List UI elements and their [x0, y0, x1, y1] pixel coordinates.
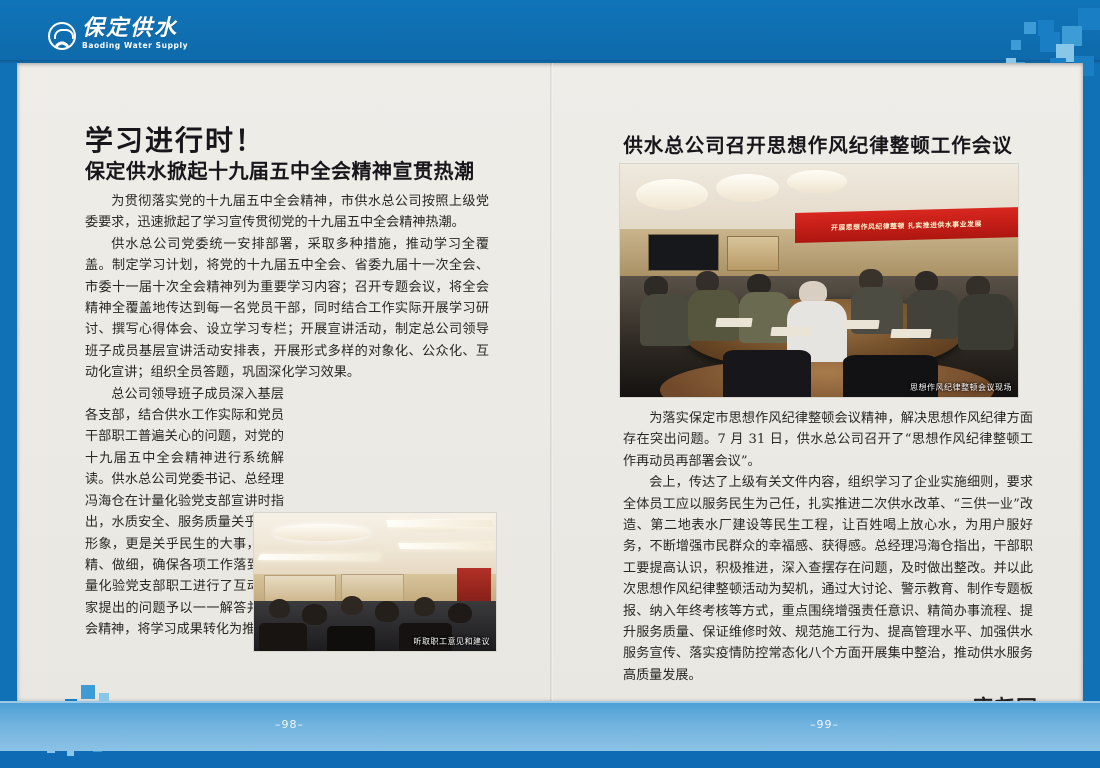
photo-person-head: [448, 603, 472, 624]
photo-ceiling-oval: [636, 179, 708, 210]
paper-sheet: 学习进行时！ 保定供水掀起十九届五中全会精神宣贯热潮 为贯彻落实党的十九届五中全…: [17, 63, 1083, 701]
right-paragraph-2: 会上，传达了上级有关文件内容，组织学习了企业实施细则，要求全体员工应以服务民生为…: [623, 472, 1033, 686]
photo-document: [771, 327, 812, 336]
brand-logo: 保定供水 Baoding Water Supply: [48, 17, 188, 50]
photo-person-body: [958, 294, 1014, 350]
photo-person-head: [302, 604, 326, 625]
photo-ceiling-oval: [787, 170, 847, 194]
mosaic-square: [1062, 26, 1082, 46]
photo-screen: [648, 234, 720, 271]
photo-person-body: [640, 294, 692, 345]
photo-chair: [327, 626, 375, 651]
photo-light-strip: [258, 554, 381, 560]
mosaic-square: [81, 685, 95, 699]
photo-person-head: [341, 596, 363, 615]
left-page-subtitle: 保定供水掀起十九届五中全会精神宣贯热潮: [85, 155, 475, 184]
photo-document: [715, 318, 752, 327]
photo-foreground-chair: [723, 350, 811, 398]
magazine-spread: 保定供水 Baoding Water Supply 学习进行时！ 保定供水掀起十…: [0, 0, 1100, 751]
photo-light-strip: [398, 543, 497, 549]
photo-window: [264, 575, 337, 603]
photo-person-head: [269, 599, 291, 618]
brand-name-cn: 保定供水: [82, 17, 188, 39]
photo-document: [890, 329, 931, 338]
photo-wall-panel: [727, 236, 779, 271]
right-page-body: 为落实保定市思想作风纪律整顿会议精神，解决思想作风纪律方面存在突出问题。7 月 …: [623, 408, 1033, 686]
left-paragraph-2: 供水总公司党委统一安排部署，采取多种措施，推动学习全覆盖。制定学习计划，将党的十…: [85, 234, 489, 384]
right-page-number: –99–: [810, 718, 839, 731]
right-page-title: 供水总公司召开思想作风纪律整顿工作会议: [553, 129, 1083, 158]
photo-ceiling-oval: [716, 174, 780, 202]
right-page: 供水总公司召开思想作风纪律整顿工作会议 开展思想作风纪律整顿 扎实推进供水事业发…: [553, 63, 1083, 701]
photo-person: [799, 281, 827, 304]
left-page-number: –98–: [275, 718, 304, 731]
photo-document: [842, 320, 879, 329]
water-wave-logo-icon: [48, 22, 76, 50]
brand-text: 保定供水 Baoding Water Supply: [82, 17, 188, 50]
photo-person-body: [688, 290, 740, 341]
left-photo-caption: 听取职工意见和建议: [414, 636, 491, 647]
mosaic-square: [1024, 22, 1036, 34]
left-paragraph-1: 为贯彻落实党的十九届五中全会精神，市供水总公司按照上级党委要求，迅速掀起了学习宣…: [85, 191, 489, 234]
photo-person-head: [375, 601, 399, 622]
photo-banner-text: 开展思想作风纪律整顿 扎实推进供水事业发展: [831, 218, 982, 232]
photo-person-head: [414, 597, 436, 616]
brand-name-en: Baoding Water Supply: [82, 42, 188, 50]
left-photo-text-wrap-spacer: [293, 387, 489, 517]
photo-light-strip: [386, 520, 495, 527]
right-paragraph-1: 为落实保定市思想作风纪律整顿会议精神，解决思想作风纪律方面存在突出问题。7 月 …: [623, 408, 1033, 472]
photo-person: [696, 271, 720, 292]
footer-band: [0, 701, 1100, 751]
photo-red-banner: 开展思想作风纪律整顿 扎实推进供水事业发展: [795, 207, 1018, 243]
left-page-title: 学习进行时！: [85, 119, 265, 159]
left-page: 学习进行时！ 保定供水掀起十九届五中全会精神宣贯热潮 为贯彻落实党的十九届五中全…: [17, 63, 550, 701]
photo-person: [915, 271, 939, 292]
conference-room-photo: 开展思想作风纪律整顿 扎实推进供水事业发展: [619, 163, 1019, 398]
meeting-room-photo: 听取职工意见和建议: [253, 512, 497, 652]
photo-chair: [259, 623, 307, 651]
mosaic-square: [1011, 40, 1021, 50]
right-photo-caption: 思想作风纪律整顿会议现场: [910, 382, 1012, 393]
